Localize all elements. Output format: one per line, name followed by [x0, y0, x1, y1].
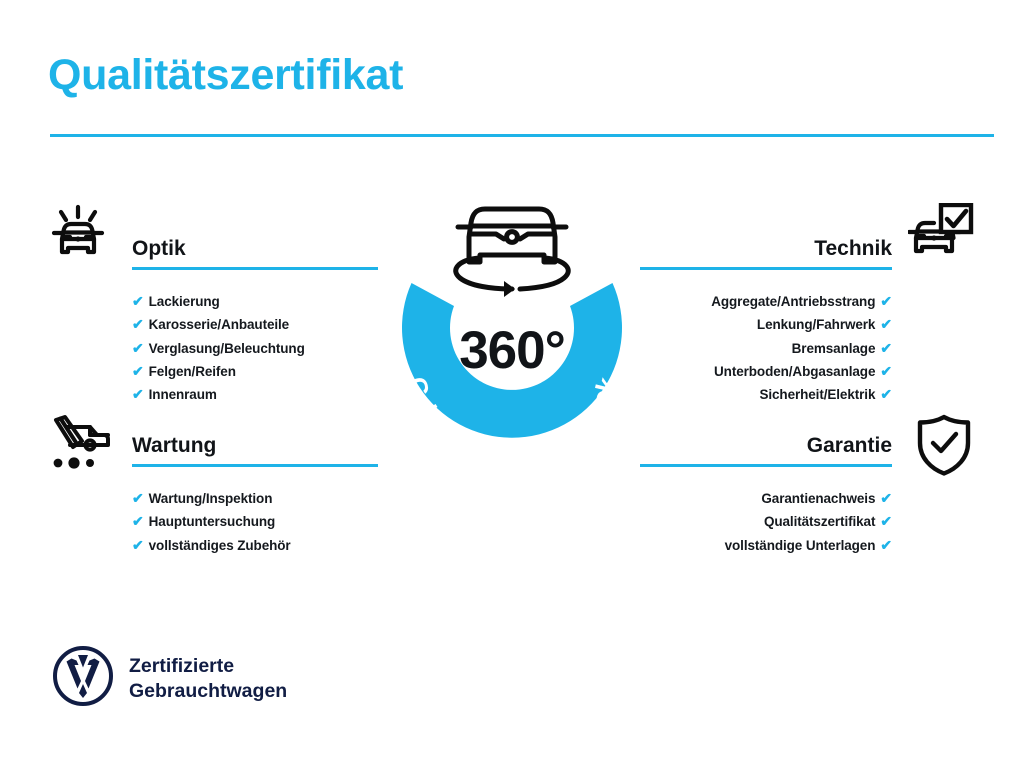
check-icon: ✔	[880, 316, 892, 332]
list-item-label: Bremsanlage	[792, 341, 876, 356]
badge-360-gebrauchtwagen-check: Gebrauchtwagen-Check	[367, 188, 657, 484]
list-item-label: Verglasung/Beleuchtung	[149, 341, 305, 356]
section-header-technik: Technik	[640, 236, 892, 276]
check-icon: ✔	[132, 340, 144, 356]
section-title: Wartung	[132, 433, 380, 459]
check-icon: ✔	[880, 293, 892, 309]
page-title: Qualitätszertifikat	[48, 52, 403, 99]
list-item-label: Innenraum	[149, 387, 217, 402]
check-icon: ✔	[132, 490, 144, 506]
list-item-label: Felgen/Reifen	[149, 364, 236, 379]
checklist-optik: ✔Lackierung ✔Karosserie/Anbauteile ✔Verg…	[132, 290, 380, 406]
check-icon: ✔	[132, 363, 144, 379]
list-item: ✔Wartung/Inspektion	[132, 487, 380, 510]
list-item-label: Wartung/Inspektion	[149, 491, 273, 506]
check-icon: ✔	[880, 490, 892, 506]
section-underline	[132, 267, 378, 270]
check-icon: ✔	[132, 386, 144, 402]
pencil-car-dots-icon	[44, 414, 112, 481]
check-icon: ✔	[132, 513, 144, 529]
list-item-label: Qualitätszertifikat	[764, 514, 875, 529]
section-wartung: Wartung ✔Wartung/Inspektion ✔Hauptunters…	[132, 433, 380, 557]
car-rotate-icon	[456, 209, 569, 297]
list-item-label: Sicherheit/Elektrik	[759, 387, 875, 402]
section-title: Garantie	[640, 433, 892, 459]
brand-line-2: Gebrauchtwagen	[129, 680, 287, 702]
brand-text: Zertifizierte Gebrauchtwagen	[129, 654, 287, 704]
check-icon: ✔	[880, 386, 892, 402]
brand-line-1: Zertifizierte	[129, 655, 234, 677]
brand-footer: Zertifizierte Gebrauchtwagen	[52, 645, 287, 712]
checklist-technik: Aggregate/Antriebsstrang✔ Lenkung/Fahrwe…	[640, 290, 892, 406]
checklist-wartung: ✔Wartung/Inspektion ✔Hauptuntersuchung ✔…	[132, 487, 380, 557]
section-underline	[640, 267, 892, 270]
list-item-label: Lackierung	[149, 294, 220, 309]
section-title: Technik	[640, 236, 892, 262]
check-icon: ✔	[132, 537, 144, 553]
list-item-label: Unterboden/Abgasanlage	[714, 364, 875, 379]
check-icon: ✔	[880, 340, 892, 356]
section-underline	[132, 464, 378, 467]
section-title: Optik	[132, 236, 380, 262]
list-item: Aggregate/Antriebsstrang✔	[640, 290, 892, 313]
list-item: ✔Felgen/Reifen	[132, 360, 380, 383]
list-item: Lenkung/Fahrwerk✔	[640, 313, 892, 336]
check-icon: ✔	[880, 537, 892, 553]
list-item: ✔Karosserie/Anbauteile	[132, 313, 380, 336]
list-item: Qualitätszertifikat✔	[640, 510, 892, 533]
qualitaetszertifikat-page: Qualitätszertifikat	[0, 0, 1024, 768]
header-divider	[50, 134, 994, 137]
list-item: vollständige Unterlagen✔	[640, 534, 892, 557]
list-item: Garantienachweis✔	[640, 487, 892, 510]
section-optik: Optik ✔Lackierung ✔Karosserie/Anbauteile…	[132, 236, 380, 406]
section-header-optik: Optik	[132, 236, 380, 276]
list-item: Sicherheit/Elektrik✔	[640, 383, 892, 406]
list-item: ✔Hauptuntersuchung	[132, 510, 380, 533]
list-item-label: Hauptuntersuchung	[149, 514, 276, 529]
badge-value: 360°	[367, 320, 657, 381]
list-item: ✔Lackierung	[132, 290, 380, 313]
list-item-label: vollständiges Zubehör	[149, 538, 291, 553]
section-garantie: Garantie Garantienachweis✔ Qualitätszert…	[640, 433, 892, 557]
list-item: ✔vollständiges Zubehör	[132, 534, 380, 557]
check-icon: ✔	[132, 316, 144, 332]
checklist-garantie: Garantienachweis✔ Qualitätszertifikat✔ v…	[640, 487, 892, 557]
list-item: Bremsanlage✔	[640, 337, 892, 360]
car-shine-icon	[46, 203, 110, 272]
list-item-label: Karosserie/Anbauteile	[149, 317, 289, 332]
list-item: Unterboden/Abgasanlage✔	[640, 360, 892, 383]
list-item-label: vollständige Unterlagen	[725, 538, 876, 553]
section-underline	[640, 464, 892, 467]
vw-logo-icon	[52, 645, 114, 712]
section-technik: Technik Aggregate/Antriebsstrang✔ Lenkun…	[640, 236, 892, 406]
list-item-label: Garantienachweis	[761, 491, 875, 506]
check-icon: ✔	[880, 513, 892, 529]
list-item-label: Aggregate/Antriebsstrang	[711, 294, 875, 309]
shield-check-icon	[915, 413, 973, 482]
check-icon: ✔	[132, 293, 144, 309]
list-item-label: Lenkung/Fahrwerk	[757, 317, 875, 332]
section-header-wartung: Wartung	[132, 433, 380, 473]
list-item: ✔Innenraum	[132, 383, 380, 406]
car-checkbox-icon	[908, 203, 974, 272]
list-item: ✔Verglasung/Beleuchtung	[132, 337, 380, 360]
check-icon: ✔	[880, 363, 892, 379]
section-header-garantie: Garantie	[640, 433, 892, 473]
